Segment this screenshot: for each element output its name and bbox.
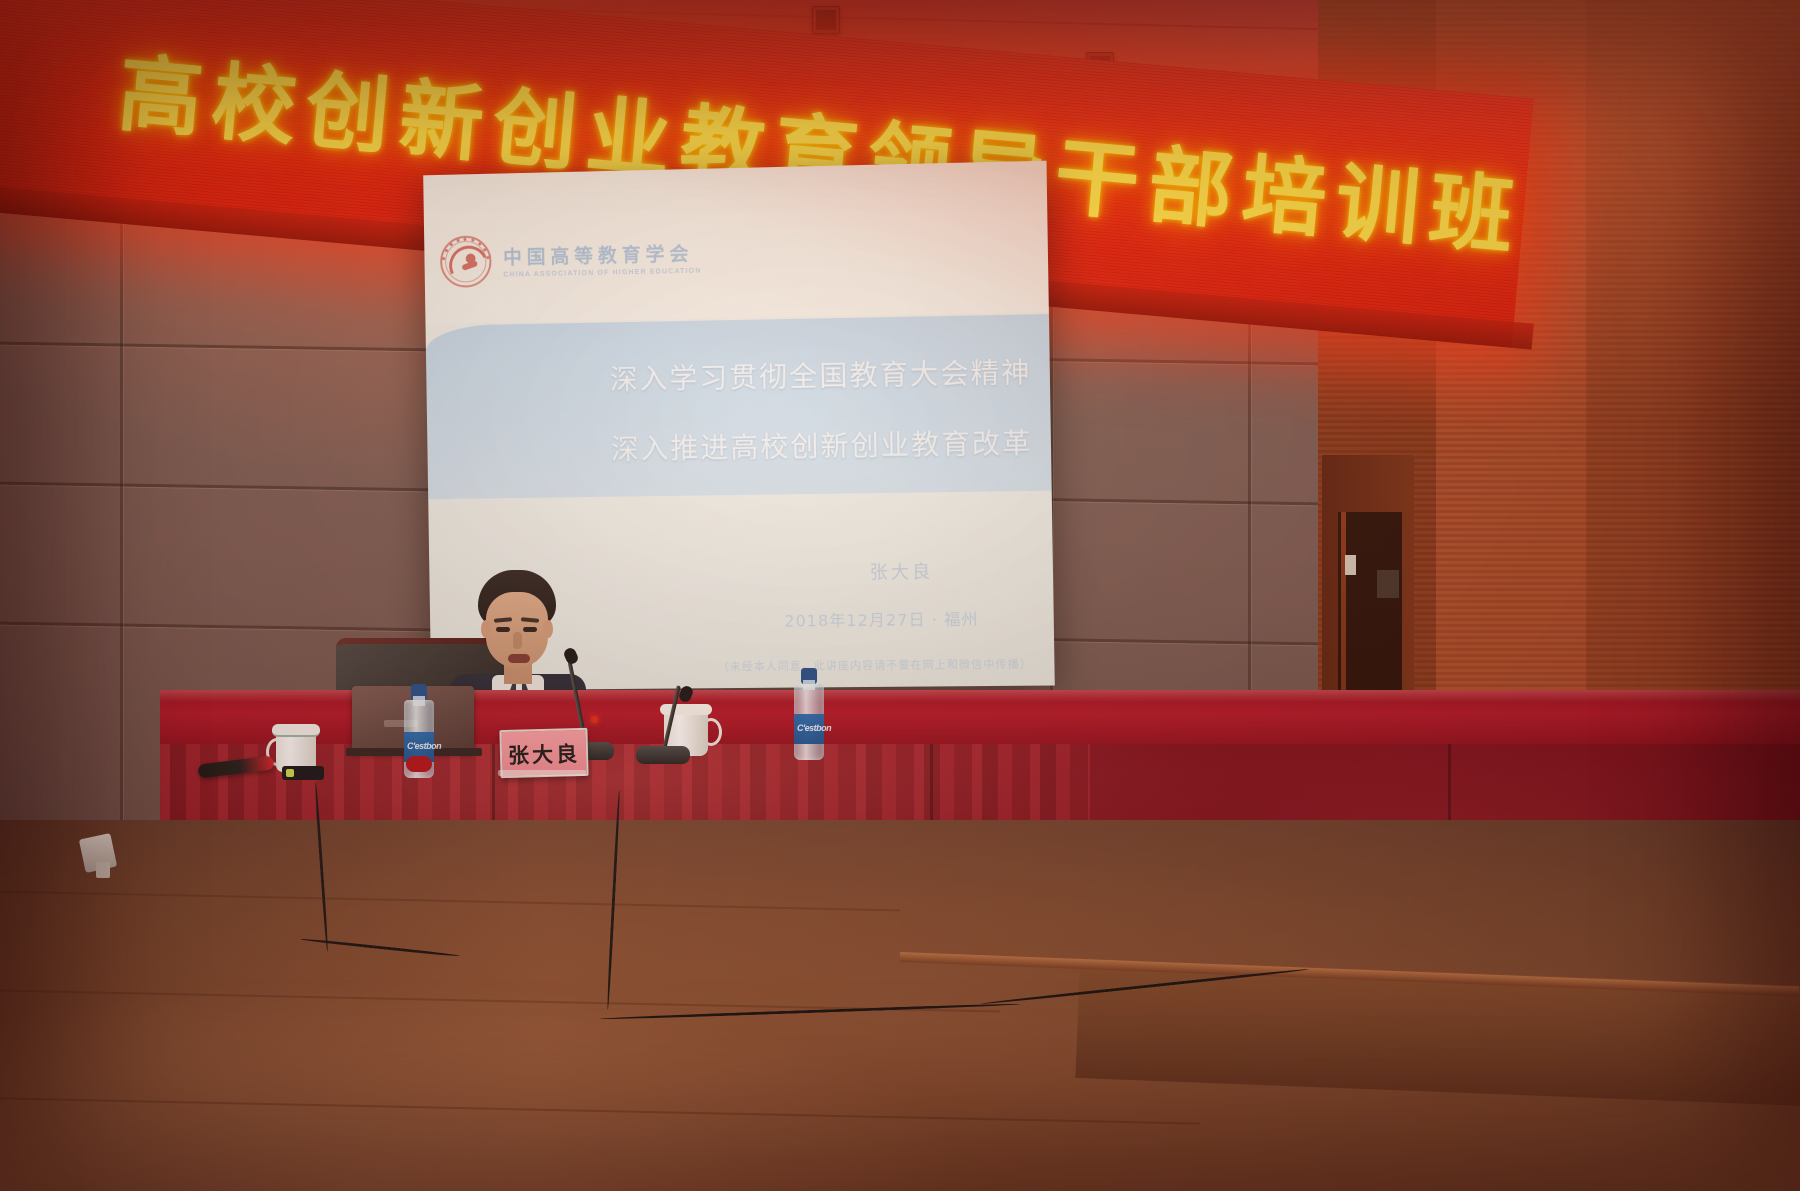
door-plate-icon bbox=[1345, 555, 1356, 575]
name-placard-stand bbox=[498, 770, 586, 776]
clicker-button-icon bbox=[286, 769, 294, 777]
bottle-brand: C'estbon bbox=[407, 741, 441, 751]
speaker-ear bbox=[481, 620, 491, 638]
speaker-mouth bbox=[508, 654, 530, 663]
mic-base bbox=[636, 746, 690, 764]
bottle-neck bbox=[413, 696, 425, 706]
presentation-clicker[interactable] bbox=[282, 766, 324, 780]
paper-cup-lid bbox=[272, 724, 320, 737]
paper-cup-lid bbox=[660, 704, 712, 715]
bottle-neck bbox=[803, 680, 815, 690]
conference-hall-photo: 高校创新创业教育领导干部培训班 bbox=[0, 0, 1800, 1191]
bottle-label: C'estbon bbox=[794, 714, 824, 744]
speaker-eye bbox=[496, 627, 510, 632]
speaker-eye bbox=[523, 627, 537, 632]
door-sign bbox=[1377, 570, 1399, 598]
mic-status-led-icon bbox=[591, 716, 598, 723]
wall-seam bbox=[120, 190, 123, 820]
water-bottle: C'estbon bbox=[794, 684, 824, 760]
speaker-nose bbox=[513, 632, 522, 649]
floor-object bbox=[96, 862, 110, 878]
red-desk-object bbox=[406, 756, 432, 772]
speaker-ear bbox=[543, 620, 553, 638]
ceiling-speaker-icon bbox=[812, 6, 840, 34]
name-placard-text: 张大良 bbox=[502, 738, 587, 770]
bottle-brand: C'estbon bbox=[797, 723, 831, 733]
